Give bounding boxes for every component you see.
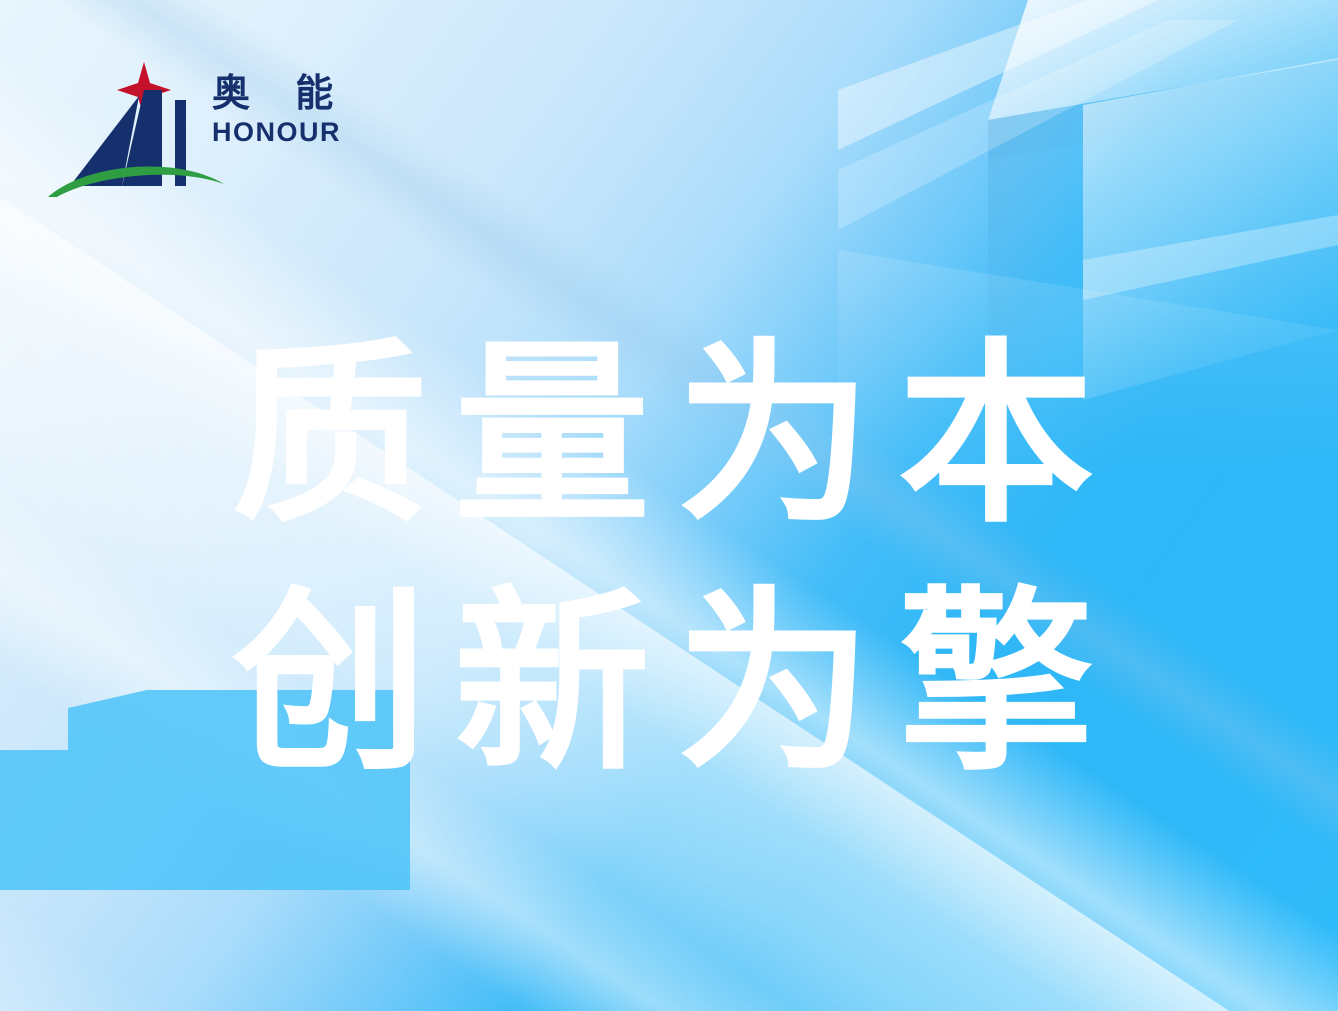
- headline-block: 质量为本 创新为擎: [232, 312, 1132, 808]
- honour-a-mark-icon: [44, 52, 229, 197]
- headline-line-1: 质量为本: [232, 312, 1132, 560]
- poster-canvas: 奥 能 HONOUR 质量为本 创新为擎: [0, 0, 1338, 1011]
- brand-name-cn: 奥 能: [212, 74, 352, 112]
- brand-name-en: HONOUR: [212, 119, 352, 146]
- brand-logo[interactable]: 奥 能 HONOUR: [44, 52, 314, 197]
- brand-wordmark: 奥 能 HONOUR: [212, 74, 352, 146]
- headline-line-2: 创新为擎: [232, 560, 1132, 808]
